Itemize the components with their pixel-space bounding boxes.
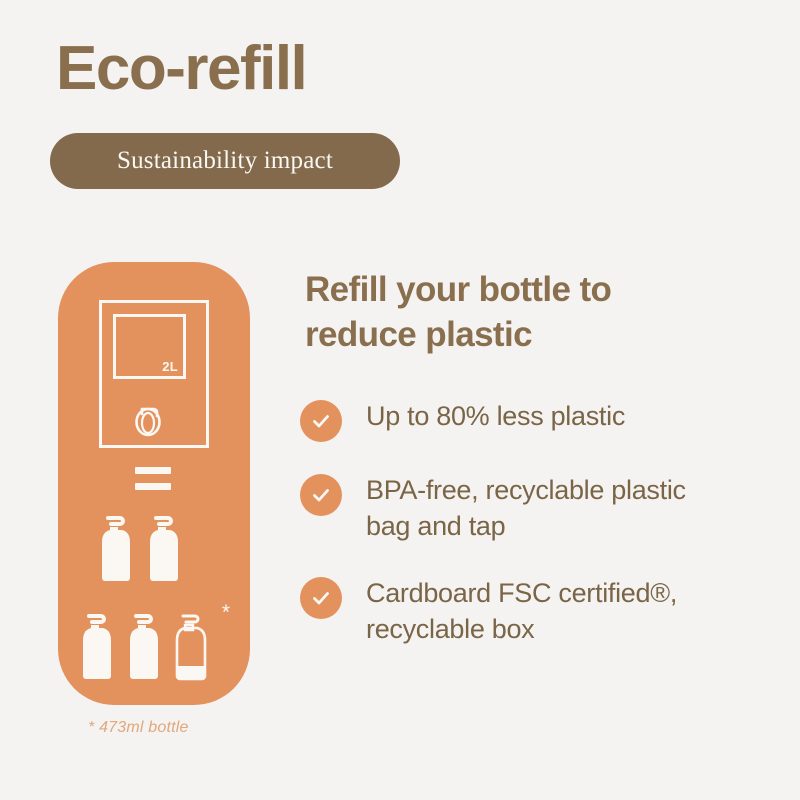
page-title: Eco-refill	[56, 38, 306, 100]
benefit-label: Up to 80% less plastic	[366, 398, 625, 434]
pump-bottle-icon	[145, 512, 183, 589]
illustration-panel: 2L	[58, 262, 250, 705]
list-item: Cardboard FSC certified®, recyclable box	[300, 575, 730, 648]
bottle-row-top	[97, 512, 183, 589]
list-item: Up to 80% less plastic	[300, 398, 730, 442]
pump-bottle-icon-partial: *	[172, 610, 210, 687]
bottle-asterisk-marker: *	[222, 602, 230, 623]
pump-bottle-icon	[78, 610, 116, 687]
check-icon	[300, 577, 342, 619]
footnote: * 473ml bottle	[88, 719, 189, 737]
refill-box-inner-label-area: 2L	[113, 314, 186, 379]
list-item: BPA-free, recyclable plastic bag and tap	[300, 472, 730, 545]
status-badge: Sustainability impact	[50, 133, 400, 189]
box-volume-label: 2L	[162, 359, 178, 374]
equals-bar-bottom	[135, 483, 171, 490]
check-icon	[300, 400, 342, 442]
tap-icon	[133, 395, 163, 437]
benefit-label: Cardboard FSC certified®, recyclable box	[366, 575, 730, 648]
equals-icon	[135, 467, 171, 490]
check-icon	[300, 474, 342, 516]
main-heading: Refill your bottle to reduce plastic	[305, 268, 725, 358]
pump-bottle-icon	[97, 512, 135, 589]
equals-bar-top	[135, 467, 171, 474]
pump-bottle-icon	[125, 610, 163, 687]
benefit-label: BPA-free, recyclable plastic bag and tap	[366, 472, 730, 545]
bottle-row-bottom: *	[78, 610, 210, 687]
benefits-list: Up to 80% less plastic BPA-free, recycla…	[300, 398, 730, 678]
status-badge-label: Sustainability impact	[117, 147, 333, 175]
refill-box-icon: 2L	[99, 300, 209, 448]
